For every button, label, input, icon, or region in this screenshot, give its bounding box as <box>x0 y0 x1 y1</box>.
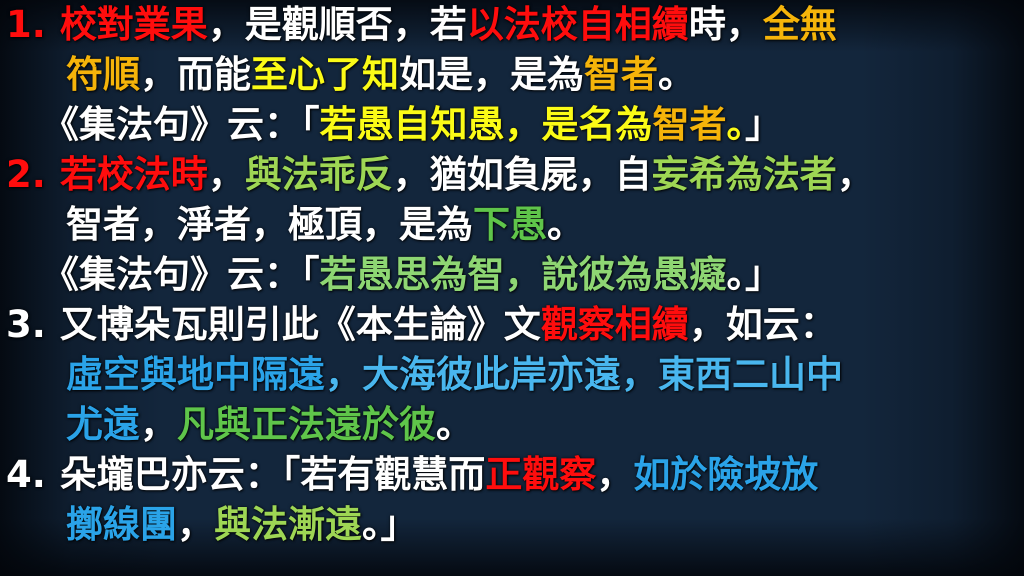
text-line: 智者，淨者，極頂，是為下愚。 <box>0 200 1024 250</box>
text-span: 。」 <box>727 253 783 296</box>
text-span: 校對業果 <box>60 3 208 46</box>
text-line: 2.若校法時，與法乖反，猶如負屍，自妄希為法者， <box>0 150 1024 200</box>
text-span: 。 <box>727 103 746 146</box>
list-number: 2. <box>6 153 60 196</box>
text-line: 3.又博朵瓦則引此《本生論》文觀察相續，如云： <box>0 300 1024 350</box>
list-number: 1. <box>6 3 60 46</box>
text-span: 與法乖反 <box>245 153 393 196</box>
text-span: 符順 <box>66 53 140 96</box>
text-span: ，猶如負屍，自 <box>393 153 652 196</box>
slide-text-content: 1.校對業果，是觀順否，若以法校自相續時，全無符順，而能至心了知如是，是為智者。… <box>0 0 1024 550</box>
text-line: 尤遠，凡與正法遠於彼。 <box>0 400 1024 450</box>
text-span: 智者 <box>653 103 727 146</box>
text-line: 符順，而能至心了知如是，是為智者。 <box>0 50 1024 100</box>
text-span: 朵壠巴亦云：「 <box>60 453 301 496</box>
text-span: ， <box>140 403 177 446</box>
text-span: 」 <box>745 103 782 146</box>
text-span: 擲線團 <box>66 503 177 546</box>
text-span: 與法漸遠 <box>214 503 362 546</box>
text-span: 若愚自知愚，是名為 <box>320 103 653 146</box>
text-span: ，而能 <box>140 53 251 96</box>
slide-canvas: 1.校對業果，是觀順否，若以法校自相續時，全無符順，而能至心了知如是，是為智者。… <box>0 0 1024 576</box>
text-span: 若愚思為智，說彼為愚癡 <box>320 253 727 296</box>
text-span: 正觀察 <box>485 453 596 496</box>
text-line: 1.校對業果，是觀順否，若以法校自相續時，全無 <box>0 0 1024 50</box>
text-span: 大海彼此岸亦遠，東西二山中 <box>362 353 843 396</box>
text-span: 下愚 <box>473 203 547 246</box>
text-span: 時， <box>689 3 763 46</box>
text-span: 如是，是為 <box>399 53 584 96</box>
text-span: 若校法時 <box>60 153 208 196</box>
text-line: 4.朵壠巴亦云：「若有觀慧而正觀察，如於險坡放 <box>0 450 1024 500</box>
text-span: ， <box>208 153 245 196</box>
text-span: 《集法句》云：「 <box>42 253 320 296</box>
list-number: 3. <box>6 303 60 346</box>
text-span: 尤遠 <box>66 403 140 446</box>
text-span: 。 <box>547 203 584 246</box>
text-span: 。 <box>436 403 473 446</box>
text-span: 以法校自相續 <box>467 3 689 46</box>
text-span: 智者 <box>584 53 658 96</box>
text-line: 虛空與地中隔遠，大海彼此岸亦遠，東西二山中 <box>0 350 1024 400</box>
text-span: ， <box>596 453 633 496</box>
text-span: 凡與正法遠於彼 <box>177 403 436 446</box>
text-span: 《集法句》云：「 <box>42 103 320 146</box>
text-span: 虛空與地中隔遠 <box>66 353 325 396</box>
text-span: ，是觀順否，若 <box>208 3 467 46</box>
text-span: 。 <box>362 503 381 546</box>
text-span: 又博朵瓦則引此《本生論》文 <box>60 303 541 346</box>
text-span: 」 <box>381 503 418 546</box>
text-line: 《集法句》云：「若愚思為智，說彼為愚癡。」 <box>0 250 1024 300</box>
text-span: 至心了知 <box>251 53 399 96</box>
text-span: 全無 <box>763 3 837 46</box>
text-span: ， <box>837 153 874 196</box>
text-span: 如於險坡放 <box>633 453 818 496</box>
text-span: ， <box>177 503 214 546</box>
text-span: ， <box>325 353 362 396</box>
text-span: 若有觀慧而 <box>300 453 485 496</box>
text-line: 擲線團，與法漸遠。」 <box>0 500 1024 550</box>
text-span: 。 <box>658 53 695 96</box>
list-number: 4. <box>6 453 60 496</box>
text-span: 妄希為法者 <box>652 153 837 196</box>
text-span: 觀察相續 <box>541 303 689 346</box>
text-line: 《集法句》云：「若愚自知愚，是名為智者。」 <box>0 100 1024 150</box>
text-span: 智者，淨者，極頂，是為 <box>66 203 473 246</box>
text-span: ，如云： <box>689 303 837 346</box>
